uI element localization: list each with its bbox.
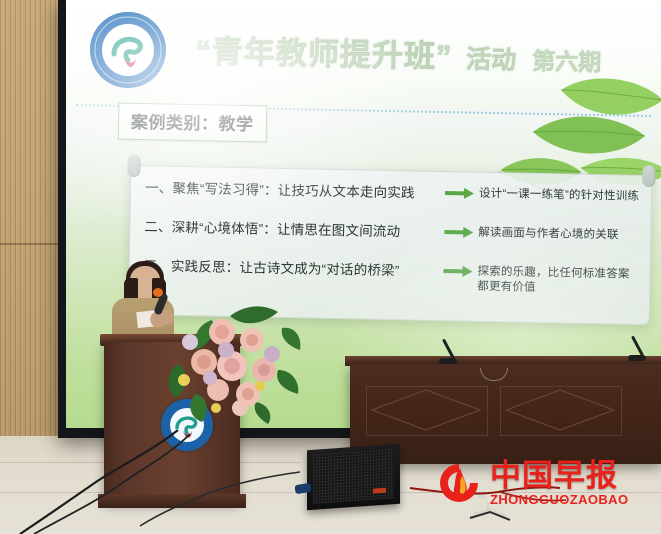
- slide-row-right: 解读画面与作者心境的关联: [478, 220, 640, 244]
- slide-row-left: 二、深耕“心境体悟”：让情思在图文间流动: [144, 213, 444, 243]
- slide-row-left: 一、聚焦“写法习得”：让技巧从文本走向实践: [145, 174, 445, 204]
- card-tab-left: [127, 155, 140, 177]
- watermark-sub: ZHONGGUOZAOBAO: [490, 493, 628, 507]
- slide-title-sub: 活动: [466, 46, 517, 75]
- school-emblem: [90, 12, 166, 88]
- presentation-photo-scene: “青年教师提升班”活动第六期 案例类别：教学 一、聚焦“写法习得”：让技巧从文本…: [0, 0, 661, 534]
- watermark: 中国早报 ZHONGGUOZAOBAO: [434, 452, 649, 514]
- slide-title-main: “青年教师提升班”: [195, 34, 453, 74]
- emblem-graphic: [90, 12, 166, 88]
- slide-row: 三、实践反思：让古诗文成为“对话的桥梁” 探索的乐趣，比任何标准答案都更有价值: [143, 252, 640, 300]
- slide-title-issue: 第六期: [532, 48, 602, 75]
- slide-row-right: 探索的乐趣，比任何标准答案都更有价值: [477, 259, 640, 298]
- case-category-label: 案例类别：教学: [131, 113, 254, 134]
- table-microphone-base: [439, 358, 457, 364]
- case-category-box: 案例类别：教学: [118, 103, 267, 143]
- table-panel-diamond: [366, 386, 486, 434]
- flower-bouquet: [160, 298, 305, 428]
- microphone-head: [153, 288, 163, 297]
- arrow-right-icon: [445, 180, 479, 200]
- flame-icon: [434, 458, 484, 508]
- arrow-right-icon: [443, 258, 477, 278]
- arrow-right-icon: [444, 219, 478, 239]
- table-panel-diamond: [500, 386, 620, 434]
- slide-row-left: 三、实践反思：让古诗文成为“对话的桥梁”: [143, 252, 443, 282]
- table-microphone-base: [628, 355, 646, 361]
- watermark-text: 中国早报 ZHONGGUOZAOBAO: [490, 460, 628, 507]
- watermark-main: 中国早报: [490, 460, 628, 492]
- card-tab-right: [642, 165, 655, 187]
- slide-row-right: 设计“一课一练笔”的针对性训练: [479, 181, 641, 205]
